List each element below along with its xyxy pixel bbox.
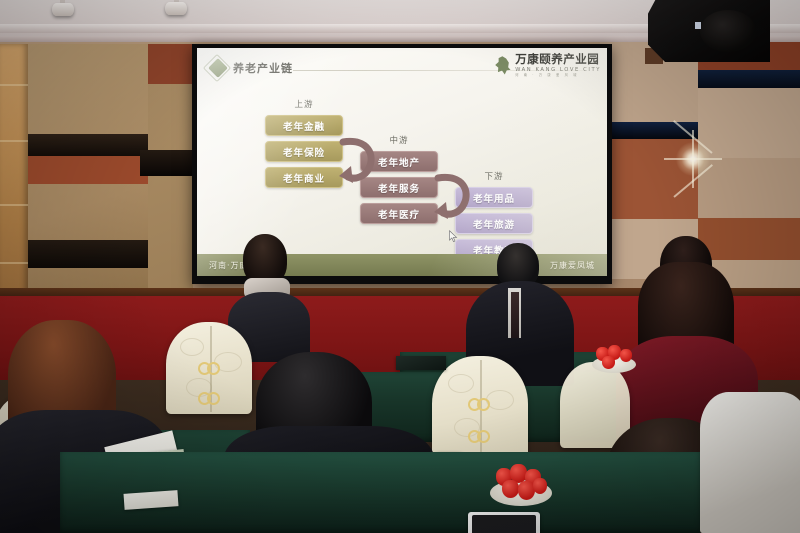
node-upstream-2[interactable]: 老年保险 [265, 141, 343, 162]
node-upstream-1[interactable]: 老年金融 [265, 115, 343, 136]
strawberry [502, 480, 519, 498]
marble-column [0, 44, 28, 304]
slide-title: 养老产业链 [233, 60, 293, 76]
necktie [511, 292, 519, 338]
arrow-midstream-to-downstream-icon [430, 170, 472, 222]
mouse-pointer-icon [449, 230, 458, 243]
chair-knot-1 [198, 362, 218, 374]
strawberry [602, 356, 615, 369]
speaker-grille [700, 10, 756, 52]
chair-knot-2 [198, 392, 218, 404]
strawberry [620, 349, 632, 362]
conference-room-scene: 养老产业链 万康颐养产业园 WAN KANG LOVE CITY 河 南 · 万… [0, 0, 800, 533]
brand-name-sub: 河 南 · 万 康 爱 凤 城 [515, 74, 601, 77]
wall-strip-navy-top [698, 70, 800, 88]
spotlight-left [52, 3, 74, 16]
tablet[interactable] [396, 356, 446, 370]
wall-panel-right-g [698, 158, 800, 218]
chair-cover-3[interactable] [560, 362, 630, 448]
torso-light [700, 392, 800, 533]
slide-footer-right: 万康爱凤城 [550, 260, 595, 271]
wall-strip-dark-lower [28, 240, 148, 268]
strawberry [533, 478, 547, 494]
tier-upstream: 上游 老年金融 老年保险 老年商业 [265, 98, 343, 193]
node-midstream-3[interactable]: 老年医疗 [360, 203, 438, 224]
slide-title-row: 养老产业链 [211, 60, 293, 76]
speaker-indicator-light [695, 22, 701, 29]
wall-panel-right-rust-low [698, 218, 800, 260]
brand-name-en: WAN KANG LOVE CITY [515, 68, 601, 73]
chair-knot-4 [468, 430, 488, 442]
diamond-icon [208, 58, 228, 78]
spotlight-right [165, 2, 187, 15]
arrow-upstream-to-midstream-icon [335, 134, 377, 186]
wall-strip-navy-mid [600, 122, 698, 139]
smartphone-screen[interactable] [472, 515, 536, 533]
brand-logo: 万康颐养产业园 WAN KANG LOVE CITY 河 南 · 万 康 爱 凤… [494, 54, 601, 77]
bird-logo-icon [494, 56, 511, 75]
chair-knot-3 [468, 398, 488, 410]
wall-panel-right-d [698, 88, 800, 158]
wall-strip-dark-upper [28, 134, 148, 156]
brand-name-cn: 万康颐养产业园 [515, 54, 601, 66]
tier-label-upstream: 上游 [265, 98, 343, 110]
node-upstream-3[interactable]: 老年商业 [265, 167, 343, 188]
wall-panel-rust-mid [28, 156, 148, 184]
